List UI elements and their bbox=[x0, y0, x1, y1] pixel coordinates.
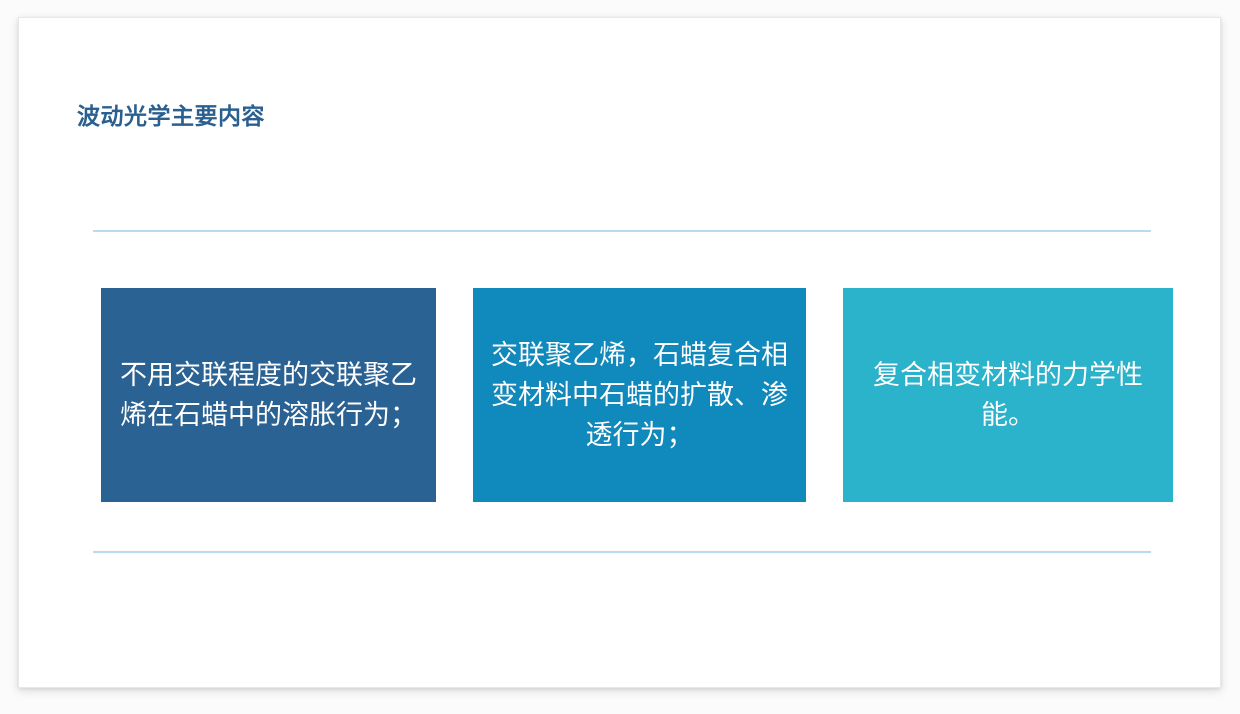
divider-bottom bbox=[93, 551, 1151, 553]
content-box-1[interactable]: 不用交联程度的交联聚乙烯在石蜡中的溶胀行为； bbox=[101, 288, 436, 502]
content-box-row: 不用交联程度的交联聚乙烯在石蜡中的溶胀行为； 交联聚乙烯，石蜡复合相变材料中石蜡… bbox=[19, 288, 1222, 502]
content-box-3[interactable]: 复合相变材料的力学性能。 bbox=[843, 288, 1173, 502]
content-box-3-text: 复合相变材料的力学性能。 bbox=[868, 355, 1148, 435]
page-title: 波动光学主要内容 bbox=[77, 100, 265, 132]
slide-canvas: 波动光学主要内容 不用交联程度的交联聚乙烯在石蜡中的溶胀行为； 交联聚乙烯，石蜡… bbox=[18, 17, 1221, 688]
divider-top bbox=[93, 230, 1151, 232]
content-box-2[interactable]: 交联聚乙烯，石蜡复合相变材料中石蜡的扩散、渗透行为； bbox=[473, 288, 806, 502]
content-box-1-text: 不用交联程度的交联聚乙烯在石蜡中的溶胀行为； bbox=[119, 355, 419, 435]
content-box-2-text: 交联聚乙烯，石蜡复合相变材料中石蜡的扩散、渗透行为； bbox=[490, 335, 790, 455]
